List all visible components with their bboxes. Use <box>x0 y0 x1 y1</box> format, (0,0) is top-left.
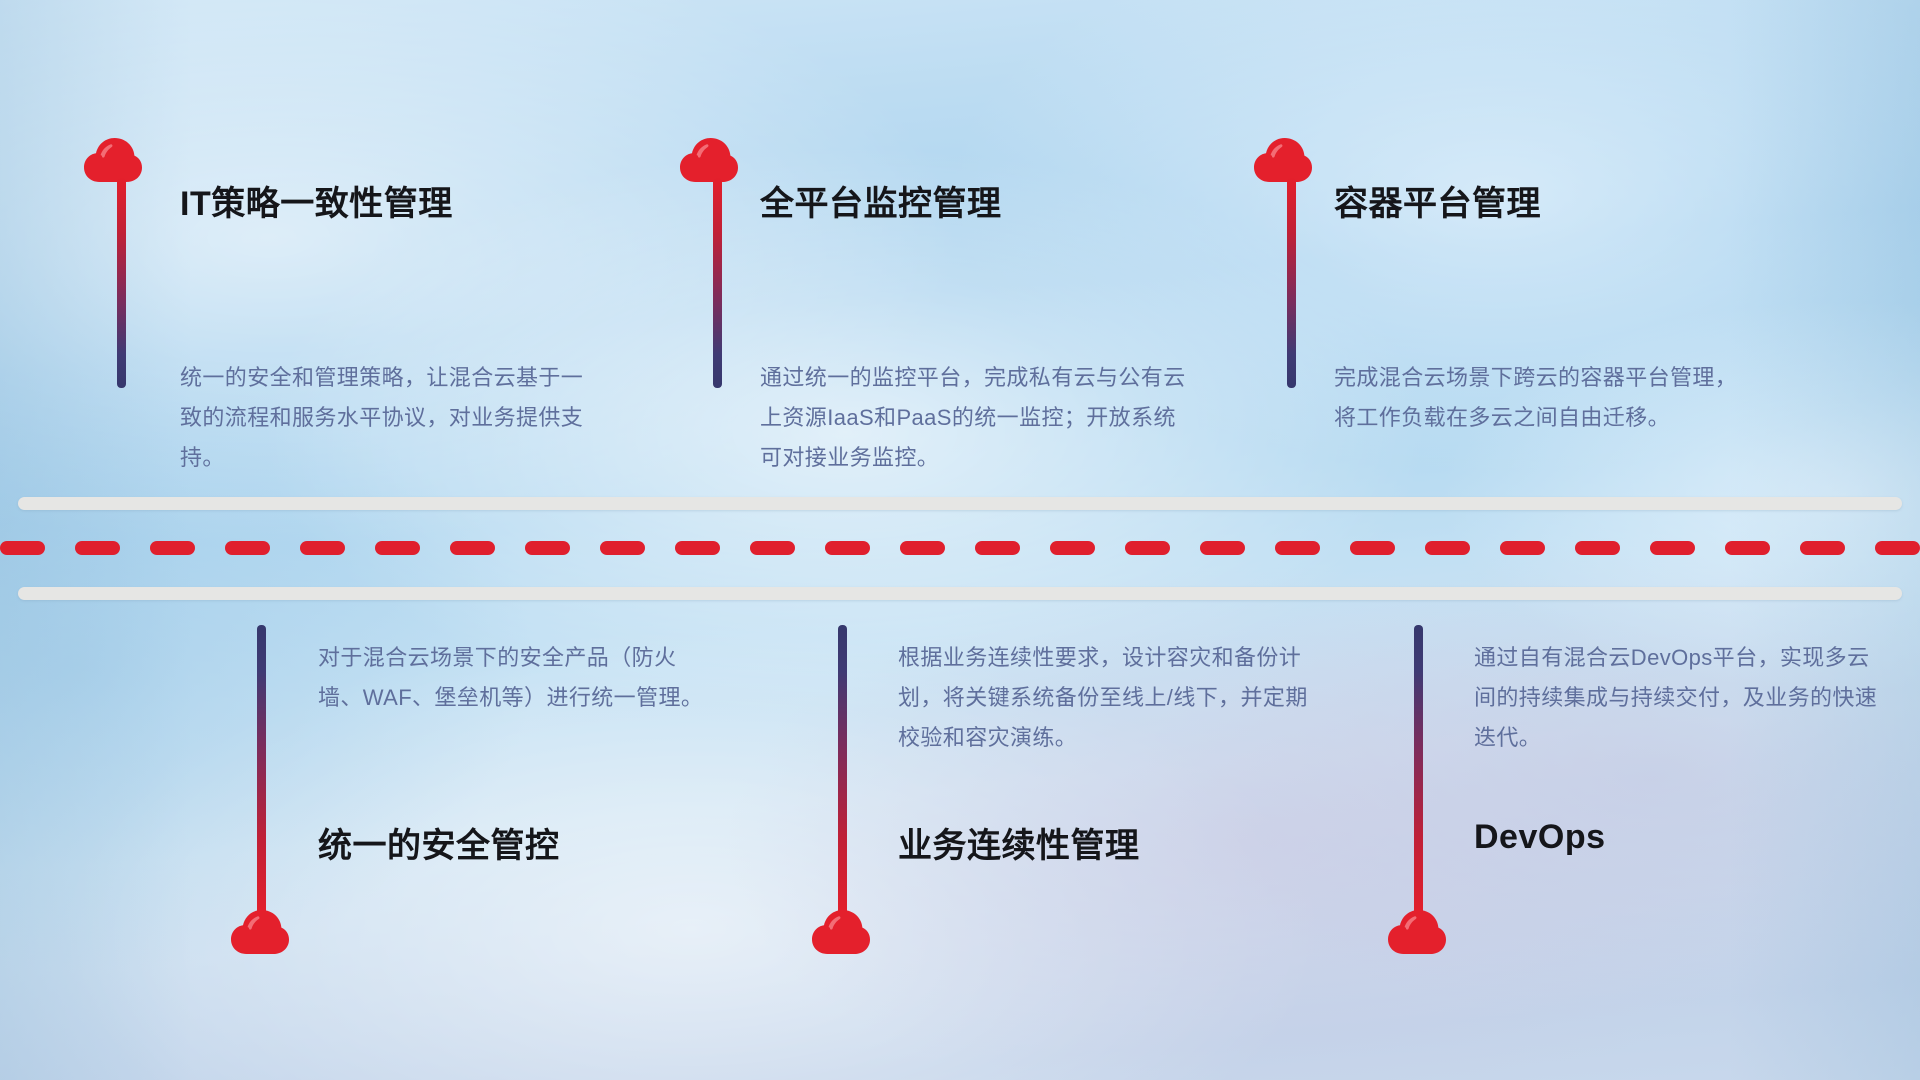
column-heading: IT策略一致性管理 <box>180 176 453 225</box>
divider-dash <box>825 541 870 555</box>
divider-dash <box>1875 541 1920 555</box>
connector-stem <box>838 625 847 915</box>
divider-dash <box>75 541 120 555</box>
divider-dash <box>1050 541 1095 555</box>
divider-dash <box>525 541 570 555</box>
connector-stem <box>1287 178 1296 388</box>
column-heading: 业务连续性管理 <box>898 818 1140 867</box>
divider-dash <box>1650 541 1695 555</box>
connector-stem <box>1414 625 1423 915</box>
divider-dash <box>750 541 795 555</box>
cloud-icon <box>678 133 740 183</box>
column-description: 完成混合云场景下跨云的容器平台管理，将工作负载在多云之间自由迁移。 <box>1334 358 1754 438</box>
divider-dash <box>300 541 345 555</box>
divider-dash <box>0 541 45 555</box>
column-description: 对于混合云场景下的安全产品（防火墙、WAF、堡垒机等）进行统一管理。 <box>318 638 718 718</box>
lower-white-rule <box>18 587 1902 600</box>
column-heading: 统一的安全管控 <box>318 818 560 867</box>
column-description: 通过自有混合云DevOps平台，实现多云间的持续集成与持续交付，及业务的快速迭代… <box>1474 638 1878 758</box>
connector-stem <box>257 625 266 915</box>
divider-dash <box>675 541 720 555</box>
column-heading: 全平台监控管理 <box>760 176 1002 225</box>
divider-dash <box>1350 541 1395 555</box>
infographic-canvas: IT策略一致性管理 统一的安全和管理策略，让混合云基于一致的流程和服务水平协议，… <box>0 0 1920 1080</box>
column-description: 根据业务连续性要求，设计容灾和备份计划，将关键系统备份至线上/线下，并定期校验和… <box>898 638 1314 758</box>
column-description: 统一的安全和管理策略，让混合云基于一致的流程和服务水平协议，对业务提供支持。 <box>180 358 592 478</box>
cloud-icon <box>1386 905 1448 955</box>
cloud-icon <box>229 905 291 955</box>
divider-dash <box>975 541 1020 555</box>
connector-stem <box>117 178 126 388</box>
divider-dash <box>600 541 645 555</box>
cloud-icon <box>82 133 144 183</box>
divider-dash <box>1725 541 1770 555</box>
divider-dash <box>1275 541 1320 555</box>
divider-dash <box>150 541 195 555</box>
red-dashed-divider <box>0 541 1920 555</box>
divider-dash <box>450 541 495 555</box>
divider-dash <box>1575 541 1620 555</box>
divider-dash <box>900 541 945 555</box>
divider-dash <box>225 541 270 555</box>
cloud-icon <box>1252 133 1314 183</box>
column-description: 通过统一的监控平台，完成私有云与公有云上资源IaaS和PaaS的统一监控；开放系… <box>760 358 1192 478</box>
divider-dash <box>375 541 420 555</box>
column-heading: 容器平台管理 <box>1334 176 1541 225</box>
divider-dash <box>1125 541 1170 555</box>
divider-dash <box>1425 541 1470 555</box>
cloud-icon <box>810 905 872 955</box>
divider-dash <box>1500 541 1545 555</box>
column-heading: DevOps <box>1474 818 1606 857</box>
upper-white-rule <box>18 497 1902 510</box>
divider-dash <box>1200 541 1245 555</box>
connector-stem <box>713 178 722 388</box>
divider-dash <box>1800 541 1845 555</box>
